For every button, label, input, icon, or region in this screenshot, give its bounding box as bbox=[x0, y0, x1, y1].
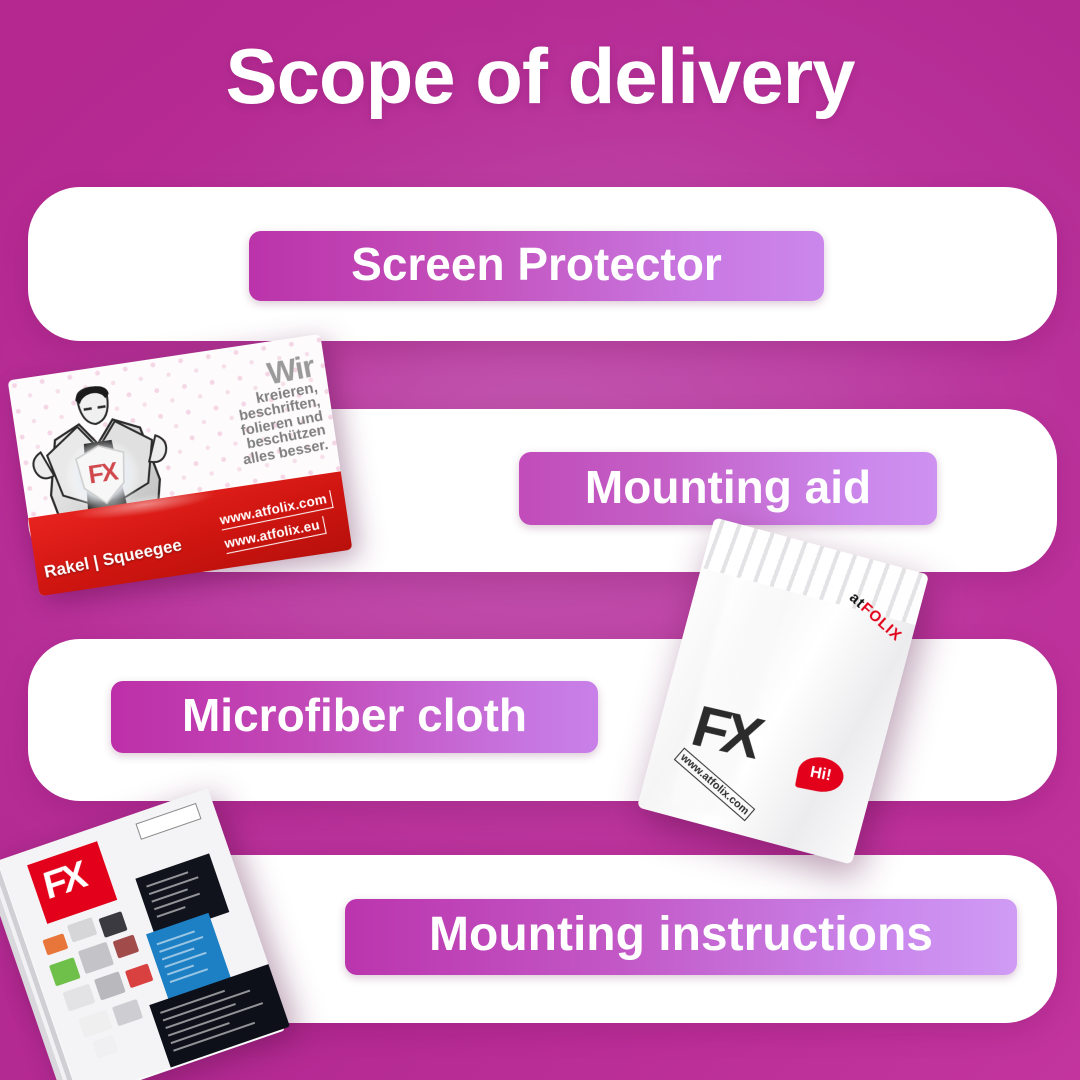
collage-item bbox=[49, 957, 81, 986]
label-pill-mounting-aid: Mounting aid bbox=[519, 452, 937, 525]
collage-item bbox=[113, 934, 140, 958]
collage-item bbox=[62, 984, 95, 1012]
label-pill-mounting-instructions: Mounting instructions bbox=[345, 899, 1017, 975]
collage-item bbox=[42, 933, 68, 955]
pill-label: Mounting aid bbox=[585, 464, 871, 514]
collage-item bbox=[78, 1009, 113, 1038]
collage-item bbox=[98, 911, 127, 938]
pill-label: Mounting instructions bbox=[429, 911, 933, 963]
collage-item bbox=[125, 963, 154, 988]
pill-label: Screen Protector bbox=[351, 241, 722, 291]
scope-of-delivery-graphic: Scope of delivery Screen Protector Mount… bbox=[0, 0, 1080, 1080]
product-photo-instruction-booklet: FX bbox=[0, 788, 294, 1080]
collage-item bbox=[92, 1035, 119, 1059]
fx-logo: FX bbox=[40, 856, 88, 906]
collage-item bbox=[94, 971, 126, 1000]
collage-item bbox=[67, 917, 97, 942]
squeegee-card-body: FX Wir kreieren, beschriften, folieren u… bbox=[8, 334, 353, 596]
label-pill-microfiber-cloth: Microfiber cloth bbox=[111, 681, 598, 753]
hi-speech-bubble: Hi! bbox=[795, 754, 847, 796]
collage-item bbox=[112, 999, 143, 1026]
label-pill-screen-protector: Screen Protector bbox=[249, 231, 824, 301]
page-title: Scope of delivery bbox=[0, 36, 1080, 118]
collage-item bbox=[78, 942, 114, 974]
product-photo-squeegee-card: FX Wir kreieren, beschriften, folieren u… bbox=[8, 334, 353, 596]
booklet-url-box bbox=[135, 803, 201, 840]
pill-label: Microfiber cloth bbox=[182, 692, 527, 742]
fx-logo-block: FX bbox=[27, 841, 117, 924]
